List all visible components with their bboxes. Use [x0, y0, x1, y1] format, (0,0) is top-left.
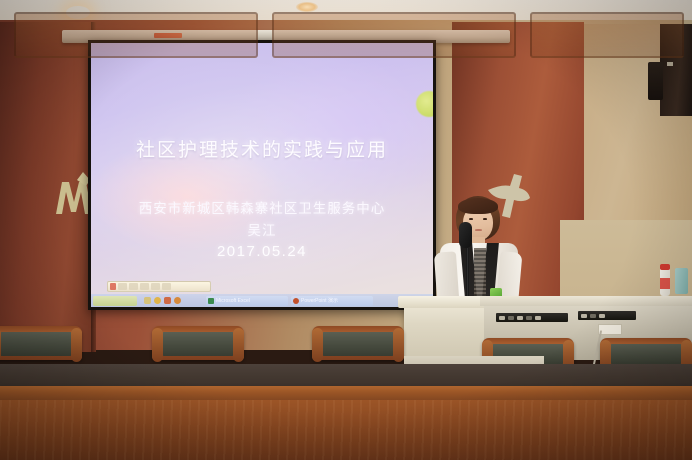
av-control-panel-left[interactable] — [496, 313, 568, 322]
presenter-bangs — [458, 198, 498, 214]
quick-launch-bar[interactable] — [144, 297, 181, 304]
ime-toolbar[interactable] — [107, 281, 211, 292]
slide-subtitle-presenter: 吴江 — [91, 219, 433, 239]
excel-icon — [208, 298, 214, 304]
ie-icon[interactable] — [154, 297, 161, 304]
windows-taskbar[interactable]: Microsoft Excel PowerPoint 演示 — [91, 294, 433, 307]
ime-keyboard-icon[interactable] — [151, 283, 160, 290]
teal-cup — [675, 268, 688, 294]
ime-logo-icon — [110, 283, 116, 290]
ime-softkeyboard-icon[interactable] — [162, 283, 171, 290]
projected-slide: 社区护理技术的实践与应用 西安市新城区韩森寨社区卫生服务中心 吴江 2017.0… — [91, 43, 433, 307]
av-key-icon[interactable] — [590, 314, 596, 318]
slide-date: 2017.05.24 — [91, 243, 433, 260]
av-key-icon[interactable] — [508, 316, 514, 320]
water-bottle-cap — [660, 264, 670, 270]
taskbar-item-excel[interactable]: Microsoft Excel — [206, 296, 288, 306]
speaker-bracket-icon — [648, 62, 663, 100]
media-icon[interactable] — [174, 297, 181, 304]
water-bottle-label — [660, 278, 670, 289]
start-button[interactable] — [93, 296, 137, 306]
presenter-eye-right — [483, 218, 487, 220]
av-key-icon[interactable] — [517, 316, 523, 320]
taskbar-item-powerpoint[interactable]: PowerPoint 演示 — [291, 296, 373, 306]
projector-glow — [91, 43, 433, 307]
document-icon[interactable] — [164, 297, 171, 304]
projection-screen: 社区护理技术的实践与应用 西安市新城区韩森寨社区卫生服务中心 吴江 2017.0… — [88, 40, 436, 310]
recessed-ceiling-light-secondary — [296, 2, 318, 12]
slide-title: 社区护理技术的实践与应用 — [91, 135, 433, 162]
taskbar-item-excel-label: Microsoft Excel — [216, 298, 250, 304]
av-key-icon[interactable] — [599, 314, 605, 318]
table-panel-inset — [272, 12, 516, 58]
av-control-panel-right[interactable] — [578, 311, 636, 320]
av-key-icon[interactable] — [535, 316, 541, 320]
conference-room-photo: 社区护理技术的实践与应用 西安市新城区韩森寨社区卫生服务中心 吴江 2017.0… — [0, 0, 692, 460]
av-key-icon[interactable] — [526, 316, 532, 320]
microphone-head-icon — [459, 222, 472, 248]
speaker-led-icon — [667, 62, 673, 66]
presenter-eye-left — [469, 218, 473, 220]
ime-punctuation-icon[interactable] — [140, 283, 149, 290]
ime-mode-icon[interactable] — [118, 283, 127, 290]
table-wood-grain — [0, 400, 692, 460]
av-key-icon[interactable] — [499, 316, 505, 320]
powerpoint-icon — [293, 298, 299, 304]
table-panel-inset — [530, 12, 684, 58]
ime-fullwidth-icon[interactable] — [129, 283, 138, 290]
taskbar-item-powerpoint-label: PowerPoint 演示 — [301, 297, 338, 304]
slide-subtitle-org: 西安市新城区韩森寨社区卫生服务中心 — [91, 197, 433, 217]
av-key-icon[interactable] — [581, 314, 587, 318]
table-panel-inset — [14, 12, 258, 58]
presenter-mouth — [475, 229, 482, 231]
av-console-top-surface — [480, 296, 692, 306]
folder-icon[interactable] — [144, 297, 151, 304]
